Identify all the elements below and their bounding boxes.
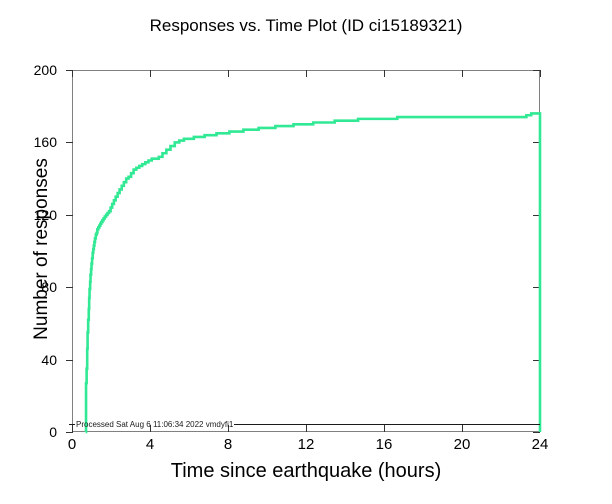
data-series-svg (72, 70, 540, 432)
y-tick-label: 40 (41, 352, 57, 368)
y-tick-label: 120 (34, 207, 57, 223)
y-tick-label: 80 (41, 279, 57, 295)
x-tick-label: 8 (224, 436, 232, 453)
x-tick-label: 20 (454, 436, 471, 453)
x-tick-label: 24 (532, 436, 549, 453)
chart-title: Responses vs. Time Plot (ID ci15189321) (0, 16, 612, 36)
x-tick-mark-top (540, 70, 541, 77)
plot-area: 04080120160200 04812162024 (72, 70, 540, 432)
x-tick-label: 4 (146, 436, 154, 453)
y-tick-label: 0 (49, 424, 57, 440)
y-axis-label: Number of responses (31, 109, 53, 389)
x-axis-label: Time since earthquake (hours) (72, 460, 540, 483)
y-tick-mark-right (533, 432, 540, 433)
x-tick-label: 16 (376, 436, 393, 453)
y-tick-mark: 0 (66, 432, 73, 433)
chart-figure: Responses vs. Time Plot (ID ci15189321) … (0, 0, 612, 504)
response-curve (86, 113, 540, 432)
x-tick-label: 0 (68, 436, 76, 453)
annotation-rule-right (234, 424, 540, 425)
y-tick-label: 160 (34, 134, 57, 150)
y-tick-label: 200 (34, 62, 57, 78)
processed-annotation: Processed Sat Aug 6 11:06:34 2022 vmdyfi… (76, 420, 233, 429)
x-tick-label: 12 (298, 436, 315, 453)
annotation-rule-left (69, 424, 75, 425)
